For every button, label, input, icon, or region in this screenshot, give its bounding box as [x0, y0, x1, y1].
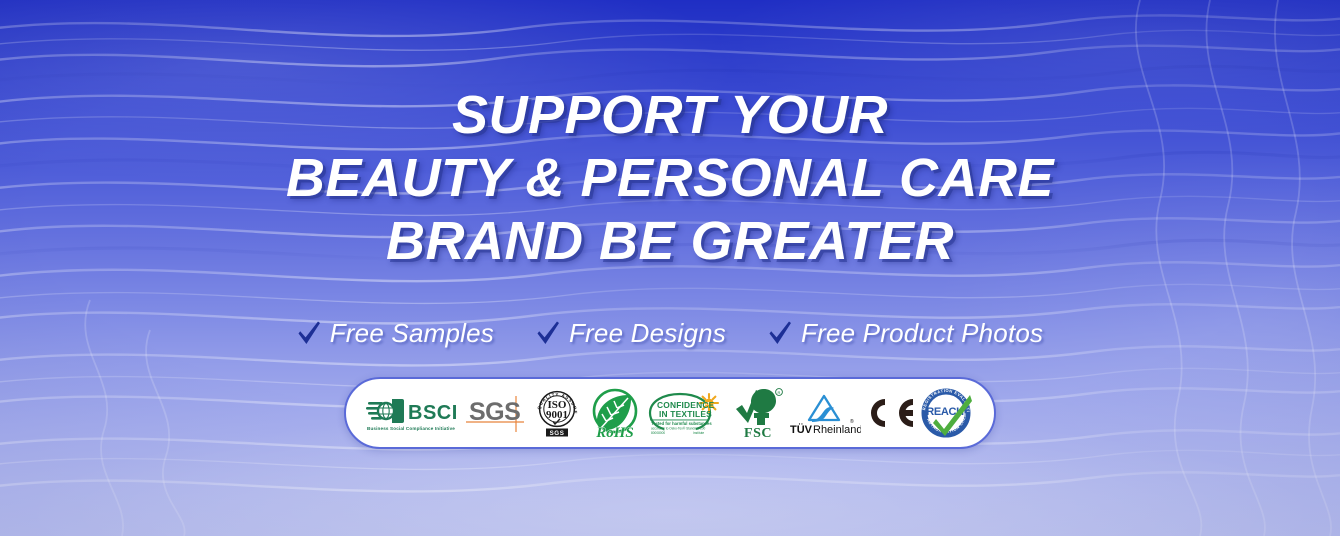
svg-text:R: R [777, 389, 780, 394]
oeko-tex-badge-icon: OT CONFIDENCE IN TEXTILES Tested for har… [646, 386, 730, 440]
svg-text:80008000: 80008000 [651, 431, 665, 435]
headline-line-3: BRAND BE GREATER [286, 210, 1054, 273]
promo-banner: SUPPORT YOUR BEAUTY & PERSONAL CARE BRAN… [0, 0, 1340, 536]
svg-text:RoHS: RoHS [595, 425, 634, 439]
svg-text:SGS: SGS [469, 398, 520, 426]
feature-item-free-samples: Free Samples [297, 318, 494, 349]
bsci-badge-icon: BSCI Business Social Compliance Initiati… [366, 386, 462, 440]
feature-item-free-designs: Free Designs [536, 318, 726, 349]
svg-text:Institute: Institute [693, 431, 704, 435]
svg-text:according to Oeko-Tex® Standar: according to Oeko-Tex® Standard 100 [651, 426, 705, 430]
check-icon [768, 320, 792, 346]
feature-label: Free Product Photos [801, 318, 1043, 349]
banner-content: SUPPORT YOUR BEAUTY & PERSONAL CARE BRAN… [0, 0, 1340, 536]
page-title: SUPPORT YOUR BEAUTY & PERSONAL CARE BRAN… [286, 0, 1054, 274]
svg-text:SGS: SGS [550, 430, 565, 437]
fsc-badge-icon: R FSC [734, 386, 784, 440]
check-icon [536, 320, 560, 346]
iso9001-badge-icon: QUALITY ASSURED FIRM ISO 9001 SGS [531, 386, 583, 440]
svg-text:TÜV: TÜV [790, 423, 813, 436]
svg-text:9001: 9001 [546, 409, 568, 421]
feature-item-free-product-photos: Free Product Photos [768, 318, 1043, 349]
ce-mark-icon [865, 386, 917, 440]
feature-list: Free Samples Free Designs Free Product P… [297, 318, 1044, 349]
svg-text:FSC: FSC [744, 426, 772, 439]
headline-line-2: BEAUTY & PERSONAL CARE [286, 147, 1054, 210]
sgs-badge-icon: SGS [466, 386, 528, 440]
feature-label: Free Designs [569, 318, 726, 349]
rohs-badge-icon: RoHS [587, 386, 643, 440]
reach-badge-icon: REGISTRATION EVALUATION AUTHORISATION CH… [920, 386, 974, 440]
svg-text:Business Social Compliance Ini: Business Social Compliance Initiative [367, 426, 455, 431]
check-icon [297, 320, 321, 346]
feature-label: Free Samples [330, 318, 494, 349]
svg-text:IN TEXTILES: IN TEXTILES [659, 409, 712, 419]
headline-line-1: SUPPORT YOUR [286, 84, 1054, 147]
certification-badge-strip: BSCI Business Social Compliance Initiati… [344, 377, 996, 449]
svg-text:Rheinland: Rheinland [813, 424, 861, 436]
tuv-rheinland-badge-icon: TÜV Rheinland ® [787, 386, 861, 440]
svg-text:BSCI: BSCI [408, 402, 458, 424]
svg-text:Tested for harmful substances: Tested for harmful substances [651, 421, 712, 426]
svg-text:®: ® [850, 418, 854, 425]
